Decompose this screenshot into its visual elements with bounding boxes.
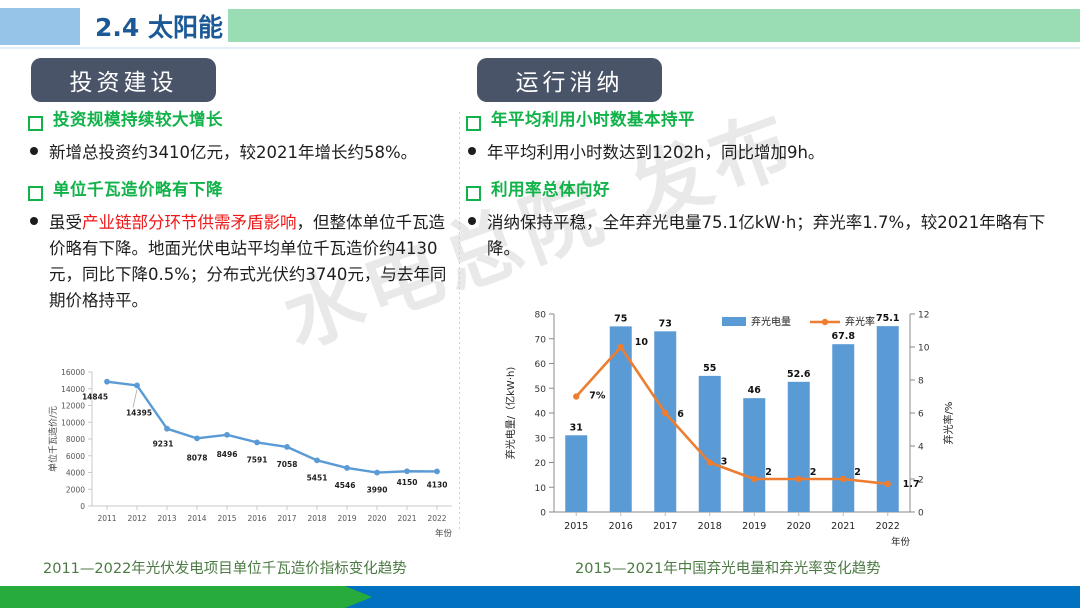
svg-text:40: 40: [535, 410, 547, 420]
footer-green-chevron: [0, 586, 372, 608]
svg-text:2017: 2017: [653, 521, 677, 532]
svg-text:2011: 2011: [97, 514, 116, 523]
svg-text:30: 30: [535, 434, 547, 444]
svg-text:6: 6: [677, 409, 684, 420]
svg-text:2: 2: [854, 467, 861, 478]
svg-text:10000: 10000: [61, 418, 85, 427]
svg-text:7%: 7%: [589, 391, 606, 402]
bullet2-highlight: 产业链部分环节供需矛盾影响: [82, 213, 297, 232]
svg-text:52.6: 52.6: [787, 369, 811, 380]
svg-text:2: 2: [810, 467, 817, 478]
right-section-2: 利用率总体向好: [466, 180, 1070, 201]
svg-text:10: 10: [535, 484, 547, 494]
svg-text:弃光电量: 弃光电量: [751, 315, 791, 328]
slide: 水电总院 发布 2.4 太阳能 投资建设 运行消纳 投资规模持续较大增长 新增总…: [0, 0, 1080, 608]
svg-text:7058: 7058: [277, 460, 298, 469]
right-bullet-1: 年平均利用小时数达到1202h，同比增加9h。: [466, 140, 1070, 166]
svg-text:20: 20: [535, 459, 547, 469]
svg-text:年份: 年份: [435, 528, 453, 539]
svg-text:4150: 4150: [397, 478, 418, 487]
svg-text:3: 3: [721, 457, 728, 468]
svg-text:55: 55: [703, 363, 716, 374]
svg-text:2014: 2014: [187, 514, 206, 523]
svg-text:12000: 12000: [61, 402, 85, 411]
svg-text:0: 0: [80, 502, 85, 511]
left-column: 投资规模持续较大增长 新增总投资约3410亿元，较2021年增长约58%。 单位…: [28, 110, 460, 328]
svg-text:4130: 4130: [427, 480, 448, 489]
svg-text:2016: 2016: [609, 521, 633, 532]
left-section-1: 投资规模持续较大增长: [28, 110, 460, 131]
svg-text:75: 75: [614, 313, 627, 324]
square-bullet-icon: [28, 186, 43, 201]
svg-text:2019: 2019: [742, 521, 766, 532]
square-bullet-icon: [28, 116, 43, 131]
svg-text:8000: 8000: [66, 435, 85, 444]
square-bullet-icon: [466, 186, 481, 201]
bullet2-pre: 虽受: [49, 213, 82, 232]
svg-text:2015: 2015: [564, 521, 588, 532]
round-bullet-icon: [468, 147, 476, 155]
svg-text:2016: 2016: [247, 514, 266, 523]
svg-text:2013: 2013: [157, 514, 176, 523]
svg-text:2017: 2017: [277, 514, 296, 523]
page-title: 2.4 太阳能: [95, 12, 223, 44]
svg-text:年份: 年份: [891, 536, 911, 548]
right-section-1: 年平均利用小时数基本持平: [466, 110, 1070, 131]
left-bullet-2: 虽受产业链部分环节供需矛盾影响，但整体单位千瓦造价略有下降。地面光伏电站平均单位…: [28, 210, 460, 314]
svg-text:60: 60: [535, 360, 547, 370]
svg-text:0: 0: [540, 509, 546, 519]
footer-bar: [0, 586, 1080, 608]
svg-text:8: 8: [918, 377, 924, 387]
right-column: 年平均利用小时数基本持平 年平均利用小时数达到1202h，同比增加9h。 利用率…: [466, 110, 1070, 276]
svg-text:弃光率: 弃光率: [845, 315, 875, 328]
svg-text:2021: 2021: [397, 514, 416, 523]
pill-investment-construction[interactable]: 投资建设: [31, 58, 216, 102]
left-section-2: 单位千瓦造价略有下降: [28, 180, 460, 201]
svg-text:0: 0: [918, 509, 924, 519]
svg-text:2022: 2022: [876, 521, 900, 532]
svg-text:10: 10: [918, 344, 930, 354]
caption-right-chart: 2015—2021年中国弃光电量和弃光率变化趋势: [575, 557, 881, 578]
svg-text:7591: 7591: [247, 455, 268, 464]
svg-text:8078: 8078: [187, 453, 208, 462]
round-bullet-icon: [468, 217, 476, 225]
caption-left-chart: 2011—2022年光伏发电项目单位千瓦造价指标变化趋势: [43, 557, 407, 578]
svg-text:2000: 2000: [66, 485, 85, 494]
svg-text:31: 31: [570, 422, 583, 433]
svg-text:67.8: 67.8: [832, 331, 856, 342]
header-divider: [0, 47, 1080, 49]
svg-text:50: 50: [535, 385, 547, 395]
svg-text:10: 10: [635, 337, 649, 348]
svg-text:6000: 6000: [66, 452, 85, 461]
svg-text:4: 4: [918, 443, 924, 453]
svg-text:73: 73: [659, 318, 672, 329]
svg-text:14395: 14395: [126, 408, 152, 417]
svg-text:75.1: 75.1: [876, 313, 899, 324]
svg-text:4000: 4000: [66, 469, 85, 478]
svg-text:2020: 2020: [367, 514, 386, 523]
svg-text:单位千瓦造价/元: 单位千瓦造价/元: [47, 406, 59, 472]
round-bullet-icon: [30, 147, 38, 155]
chart-cost-trend: 0200040006000800010000120001400016000201…: [40, 358, 460, 548]
svg-text:5451: 5451: [307, 473, 328, 482]
svg-text:2022: 2022: [427, 514, 446, 523]
svg-text:12: 12: [918, 311, 929, 321]
header-green-bar: [228, 9, 1080, 42]
svg-text:46: 46: [748, 385, 762, 396]
svg-text:6: 6: [918, 410, 924, 420]
svg-text:80: 80: [535, 311, 547, 321]
square-bullet-icon: [466, 116, 481, 131]
header-blue-block: [0, 8, 80, 45]
svg-text:弃光率/%: 弃光率/%: [942, 402, 955, 445]
svg-text:70: 70: [535, 335, 547, 345]
svg-text:9231: 9231: [153, 440, 174, 449]
left-bullet-1: 新增总投资约3410亿元，较2021年增长约58%。: [28, 140, 460, 166]
svg-text:2021: 2021: [831, 521, 855, 532]
round-bullet-icon: [30, 217, 38, 225]
cost-trend-svg: 0200040006000800010000120001400016000201…: [40, 358, 460, 548]
svg-text:14845: 14845: [82, 393, 108, 402]
svg-text:3990: 3990: [367, 486, 388, 495]
svg-text:2018: 2018: [698, 521, 722, 532]
svg-text:1.7: 1.7: [903, 479, 920, 490]
svg-text:2: 2: [765, 467, 772, 478]
svg-text:4546: 4546: [335, 481, 356, 490]
right-bullet-2: 消纳保持平稳，全年弃光电量75.1亿kW·h；弃光率1.7%，较2021年略有下…: [466, 210, 1070, 262]
pill-operation-consumption[interactable]: 运行消纳: [477, 58, 662, 102]
svg-text:8496: 8496: [217, 450, 238, 459]
curtailment-svg: 0102030405060708002468101220152016201720…: [492, 298, 1052, 550]
chart-curtailment: 0102030405060708002468101220152016201720…: [492, 298, 1052, 550]
svg-text:2015: 2015: [217, 514, 236, 523]
svg-text:弃光电量/（亿kW·h): 弃光电量/（亿kW·h): [504, 367, 517, 460]
svg-text:2020: 2020: [787, 521, 811, 532]
svg-text:16000: 16000: [61, 368, 85, 377]
svg-text:2018: 2018: [307, 514, 326, 523]
svg-text:2019: 2019: [337, 514, 356, 523]
svg-text:2012: 2012: [127, 514, 146, 523]
